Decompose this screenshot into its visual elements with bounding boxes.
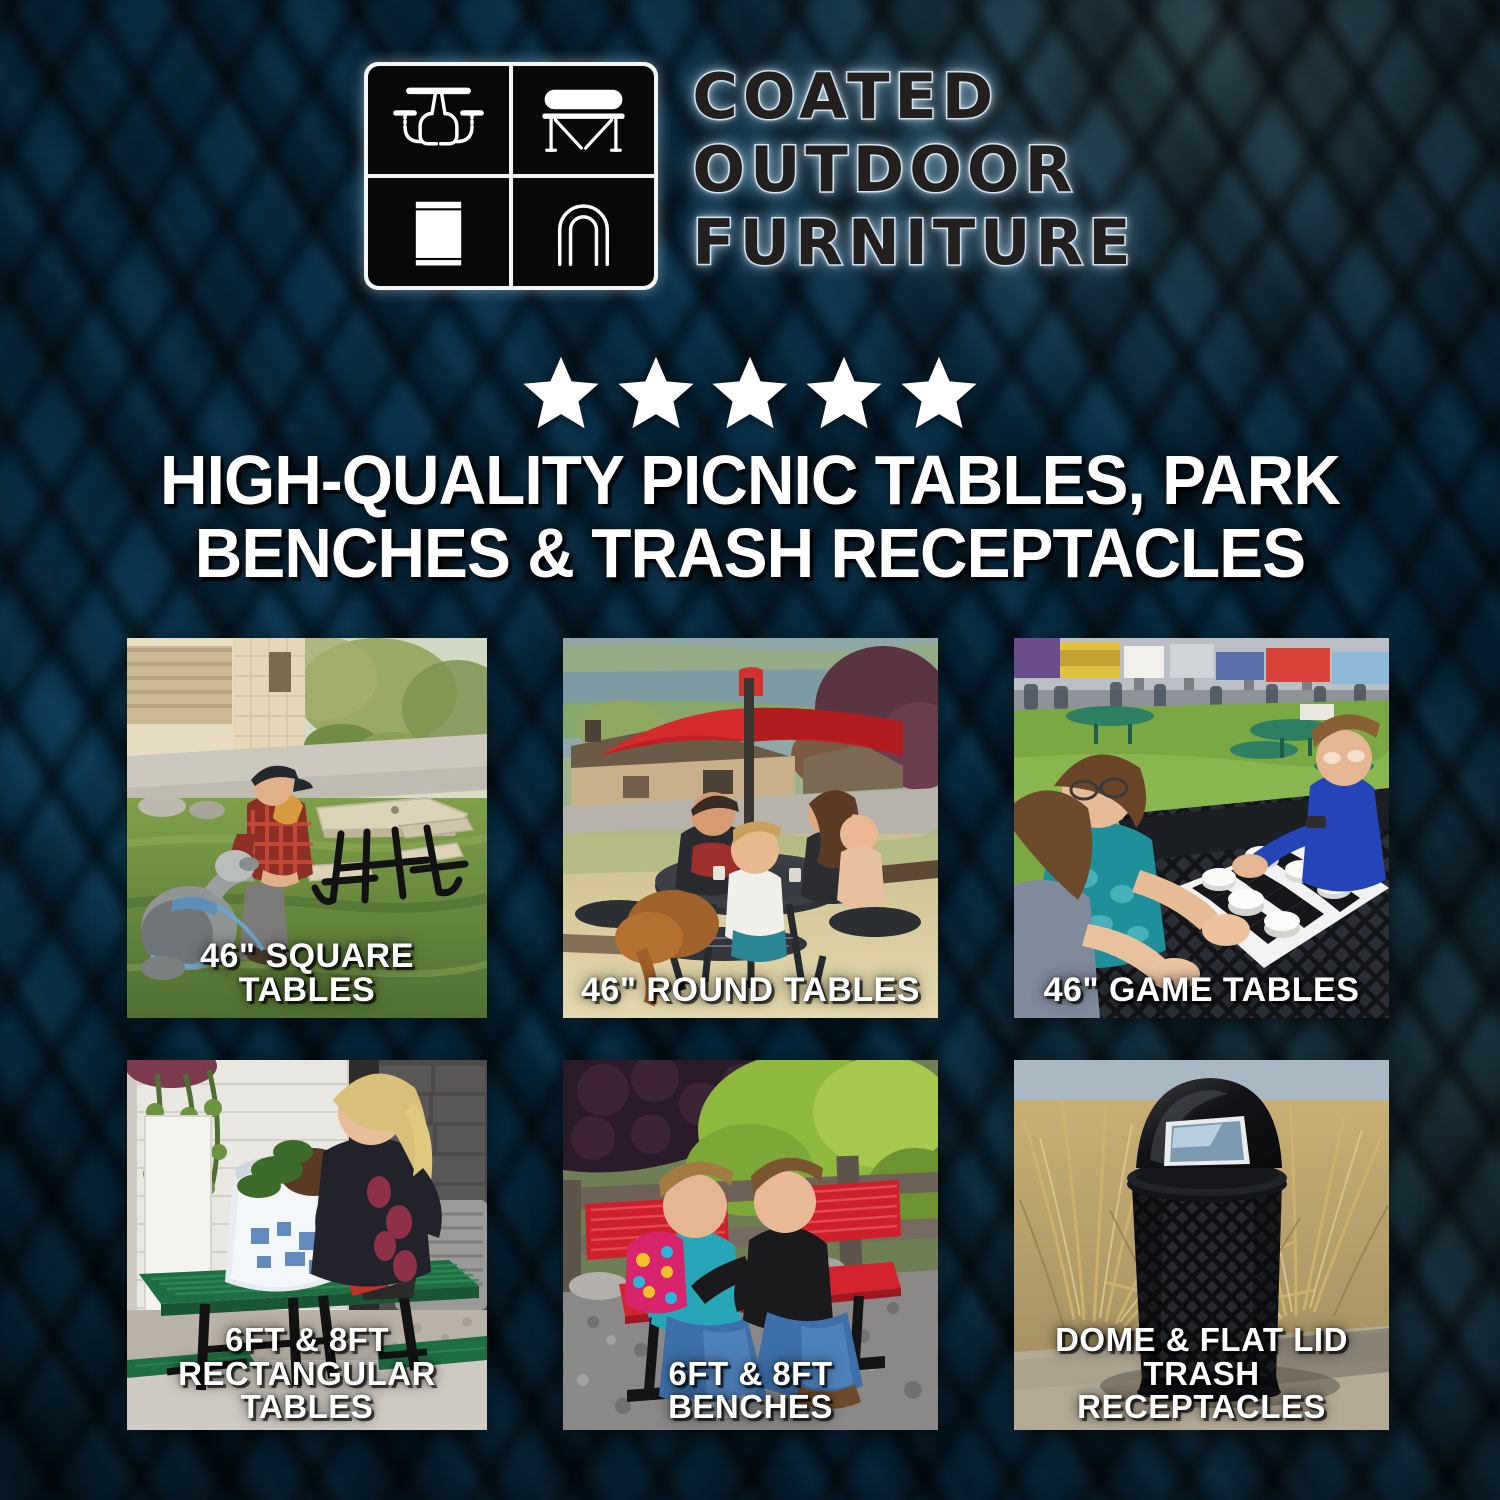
- headline: HIGH-QUALITY PICNIC TABLES, PARK BENCHES…: [45, 444, 1455, 590]
- trash-receptacle-icon: [368, 178, 509, 286]
- tile-caption: 46" ROUND TABLES: [563, 973, 938, 1008]
- caption-line: 6FT & 8FT: [133, 1323, 481, 1357]
- product-photo-game-tables: [1014, 638, 1389, 1018]
- tile-caption: 6FT & 8FT BENCHES: [563, 1357, 938, 1424]
- tile-caption: 46" SQUARE TABLES: [127, 939, 487, 1008]
- caption-line: 46" ROUND TABLES: [569, 973, 932, 1008]
- headline-line-2: BENCHES & TRASH RECEPTACLES: [45, 517, 1455, 590]
- product-tile-trash-receptacles[interactable]: DOME & FLAT LID TRASH RECEPTACLES: [1014, 1060, 1389, 1430]
- logo-mark: [364, 62, 658, 290]
- product-tile-square-tables[interactable]: 46" SQUARE TABLES: [127, 638, 487, 1018]
- star-icon: [801, 352, 887, 434]
- product-tile-game-tables[interactable]: 46" GAME TABLES: [1014, 638, 1389, 1018]
- picnic-table-icon: [368, 66, 509, 174]
- product-tile-benches[interactable]: 6FT & 8FT BENCHES: [563, 1060, 938, 1430]
- product-photo-round-tables: [563, 638, 938, 1018]
- tile-caption: DOME & FLAT LID TRASH RECEPTACLES: [1014, 1323, 1389, 1424]
- product-tile-rectangular-tables[interactable]: 6FT & 8FT RECTANGULAR TABLES: [127, 1060, 487, 1430]
- star-rating: [0, 352, 1500, 434]
- headline-line-1: HIGH-QUALITY PICNIC TABLES, PARK: [45, 444, 1455, 517]
- caption-line: BENCHES: [569, 1390, 932, 1424]
- product-tile-round-tables[interactable]: 46" ROUND TABLES: [563, 638, 938, 1018]
- caption-line: DOME & FLAT LID: [1020, 1323, 1383, 1357]
- brand-wordmark: COATED OUTDOOR FURNITURE: [692, 62, 1135, 273]
- caption-line: 46" GAME TABLES: [1020, 973, 1383, 1008]
- caption-line: 6FT & 8FT: [569, 1357, 932, 1391]
- star-icon: [613, 352, 699, 434]
- star-icon: [518, 352, 604, 434]
- brand-header: COATED OUTDOOR FURNITURE: [0, 62, 1500, 290]
- star-icon: [896, 352, 982, 434]
- tile-caption: 46" GAME TABLES: [1014, 973, 1389, 1008]
- brand-line-3: FURNITURE: [692, 214, 1135, 273]
- bike-rack-icon: [513, 178, 654, 286]
- brand-line-2: OUTDOOR: [692, 141, 1135, 200]
- caption-line: TRASH RECEPTACLES: [1020, 1357, 1383, 1424]
- product-grid: 46" SQUARE TABLES: [127, 638, 1374, 1430]
- star-icon: [707, 352, 793, 434]
- poster-content: COATED OUTDOOR FURNITURE HIGH-QUALITY PI…: [0, 0, 1500, 1500]
- caption-line: RECTANGULAR TABLES: [133, 1357, 481, 1424]
- caption-line: 46" SQUARE TABLES: [133, 939, 481, 1008]
- tile-caption: 6FT & 8FT RECTANGULAR TABLES: [127, 1323, 487, 1424]
- brand-line-1: COATED: [692, 68, 1135, 127]
- bench-icon: [513, 66, 654, 174]
